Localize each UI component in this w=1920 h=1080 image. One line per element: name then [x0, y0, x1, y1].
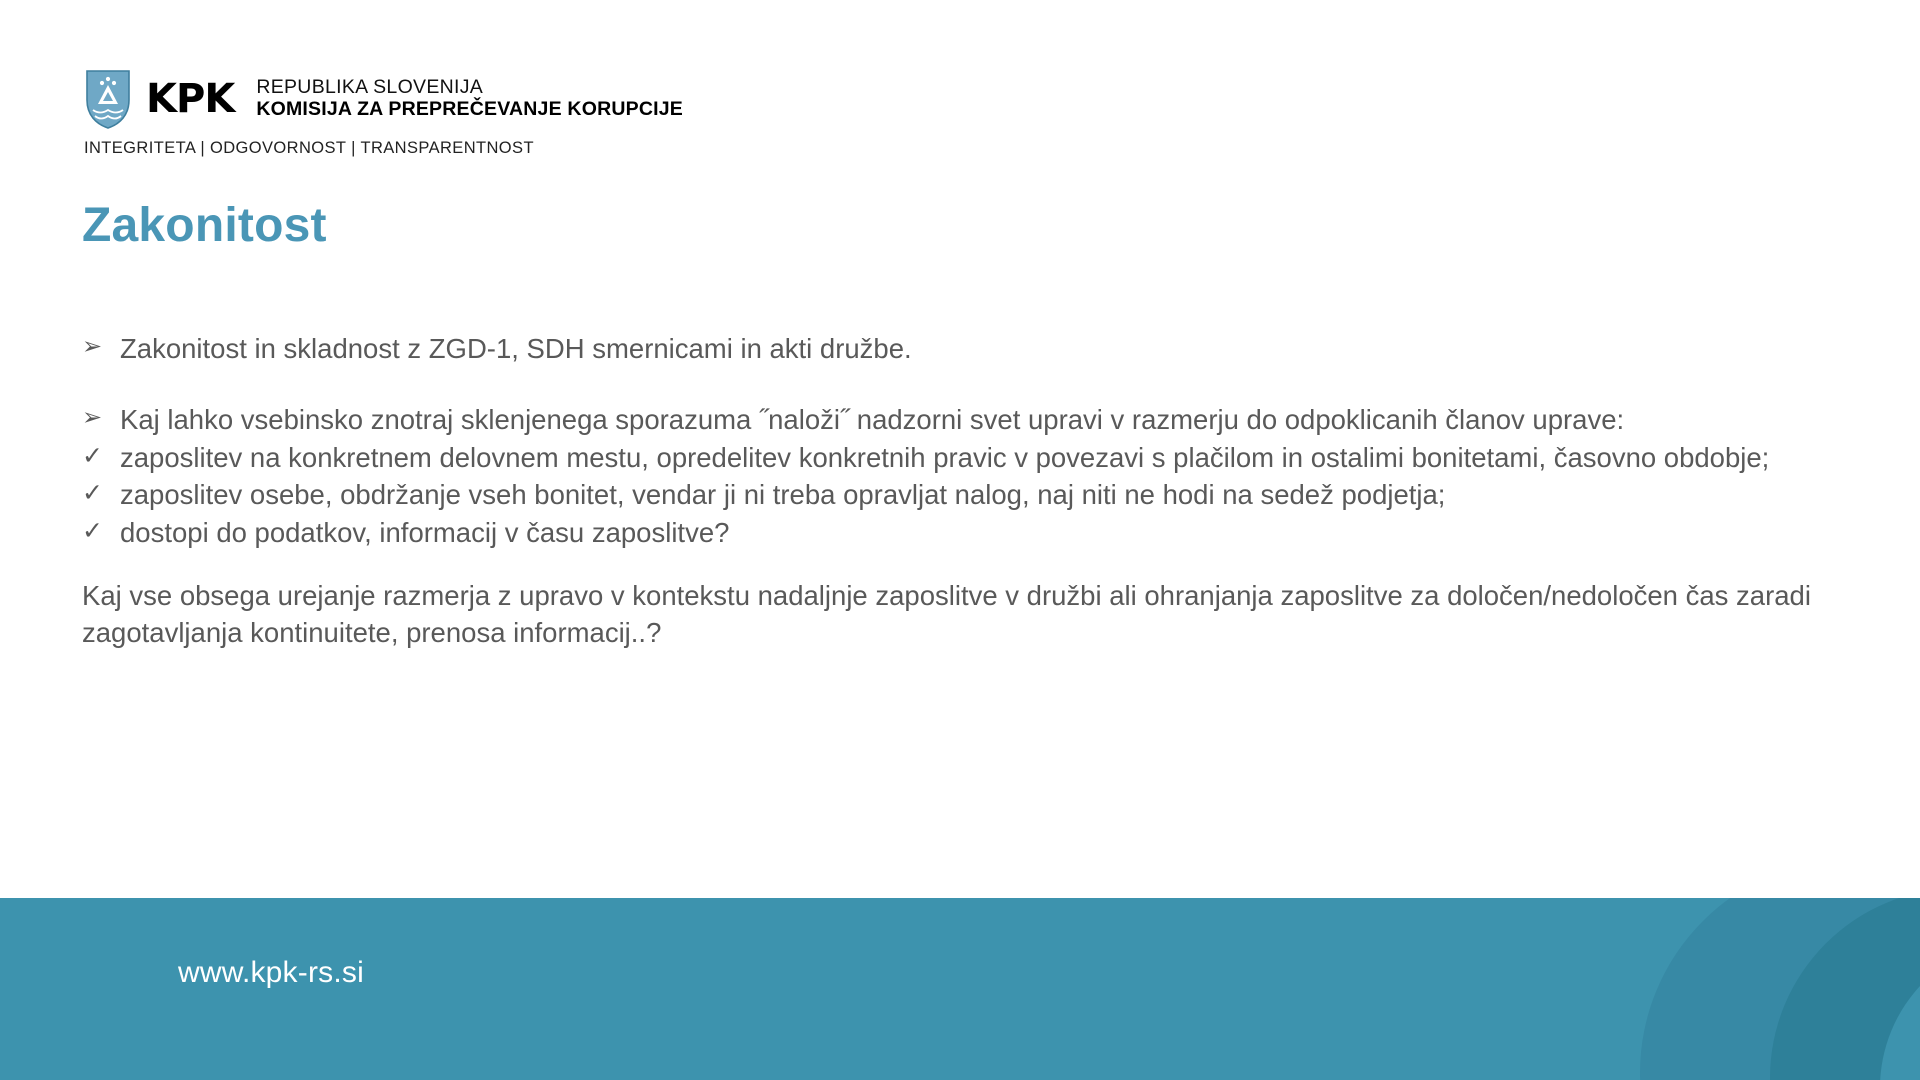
footer-website-url[interactable]: www.kpk-rs.si [178, 956, 364, 990]
spacer [82, 367, 1842, 401]
slovenia-coat-of-arms-icon [84, 68, 132, 130]
checkmark-icon: ✓ [82, 514, 106, 548]
check-item-1-text: zaposlitev na konkretnem delovnem mestu,… [120, 439, 1842, 476]
footer-band: www.kpk-rs.si [0, 898, 1920, 1080]
closing-paragraph: Kaj vse obsega urejanje razmerja z uprav… [82, 577, 1842, 652]
check-item-3: ✓ dostopi do podatkov, informacij v času… [82, 514, 1842, 551]
bullet-item-1: ➢ Zakonitost in skladnost z ZGD-1, SDH s… [82, 330, 1842, 367]
arrow-bullet-icon: ➢ [82, 330, 106, 363]
page-title: Zakonitost [82, 200, 327, 253]
arrow-bullet-icon: ➢ [82, 401, 106, 434]
check-item-2: ✓ zaposlitev osebe, obdržanje vseh bonit… [82, 476, 1842, 513]
logo-tagline: INTEGRITETA | ODGOVORNOST | TRANSPARENTN… [84, 139, 683, 158]
bullet-item-2-text: Kaj lahko vsebinsko znotraj sklenjenega … [120, 401, 1842, 438]
kpk-wordmark: KPK [146, 79, 234, 119]
bullet-item-2: ➢ Kaj lahko vsebinsko znotraj sklenjeneg… [82, 401, 1842, 438]
logo-text-lines: REPUBLIKA SLOVENIJA KOMISIJA ZA PREPREČE… [256, 77, 683, 121]
checkmark-icon: ✓ [82, 439, 106, 473]
slide-body: ➢ Zakonitost in skladnost z ZGD-1, SDH s… [82, 330, 1842, 652]
logo-republic-line: REPUBLIKA SLOVENIJA [256, 77, 683, 99]
slide: KPK REPUBLIKA SLOVENIJA KOMISIJA ZA PREP… [0, 0, 1920, 1080]
spacer [82, 551, 1842, 577]
check-item-3-text: dostopi do podatkov, informacij v času z… [120, 514, 1842, 551]
logo-row: KPK REPUBLIKA SLOVENIJA KOMISIJA ZA PREP… [84, 68, 683, 130]
bullet-item-1-text: Zakonitost in skladnost z ZGD-1, SDH sme… [120, 330, 1842, 367]
logo-commission-line: KOMISIJA ZA PREPREČEVANJE KORUPCIJE [256, 99, 683, 121]
kpk-logo: KPK REPUBLIKA SLOVENIJA KOMISIJA ZA PREP… [84, 68, 683, 158]
checkmark-icon: ✓ [82, 476, 106, 510]
check-item-1: ✓ zaposlitev na konkretnem delovnem mest… [82, 439, 1842, 476]
check-item-2-text: zaposlitev osebe, obdržanje vseh bonitet… [120, 476, 1842, 513]
